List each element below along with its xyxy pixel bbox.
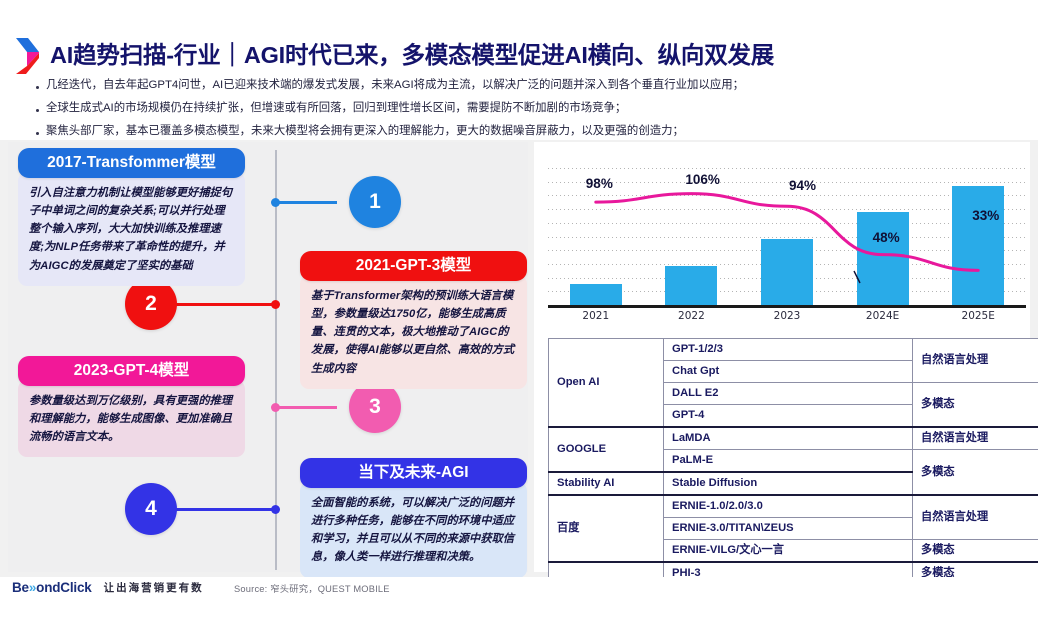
timeline-marker-3[interactable]: 3 <box>349 381 401 433</box>
timeline-card-body: 引入自注意力机制让模型能够更好捕捉句子中单词之间的复杂关系;可以并行处理整个输入… <box>18 172 245 286</box>
timeline-card-gpt3[interactable]: 2021-GPT-3模型 基于Transformer架构的预训练大语言模型，参数… <box>300 251 527 389</box>
header-bullet: 全球生成式AI的市场规模仍在持续扩张，但增速或有所回落，回归到理性增长区间，需要… <box>36 101 1016 115</box>
source-note: Source: 窄头研究，QUEST MOBILE <box>234 581 390 595</box>
bullet-dot-icon <box>36 86 39 89</box>
title-row: AI趋势扫描-行业｜AGI时代已来，多模态模型促进AI横向、纵向双发展 <box>14 36 774 76</box>
timeline-marker-label: 3 <box>369 395 381 419</box>
header-bullet-text: 聚焦头部厂家，基本已覆盖多模态模型，未来大模型将会拥有更深入的理解能力，更大的数… <box>46 124 684 138</box>
chart-growth-line <box>548 168 1026 308</box>
table-cell-category: 多模态 <box>913 450 1038 496</box>
brand-name: Be»ondClick <box>12 580 92 595</box>
timeline-marker-1[interactable]: 1 <box>349 176 401 228</box>
table-row: Open AIGPT-1/2/3自然语言处理 <box>549 339 1038 361</box>
timeline-card-title: 当下及未来-AGI <box>300 458 527 488</box>
models-table: Open AIGPT-1/2/3自然语言处理Chat GptDALL E2多模态… <box>548 338 1038 608</box>
chart-data-label: 106% <box>685 172 720 187</box>
bullet-dot-icon <box>36 132 39 135</box>
header-bullet-text: 几经迭代，自去年起GPT4问世，AI已迎来技术端的爆发式发展，未来AGI将成为主… <box>46 78 744 92</box>
header-bullet: 几经迭代，自去年起GPT4问世，AI已迎来技术端的爆发式发展，未来AGI将成为主… <box>36 78 1016 92</box>
chart-x-tick-label: 2023 <box>774 310 801 322</box>
table-cell-model: GPT-1/2/3 <box>664 339 913 361</box>
header-bullet: 聚焦头部厂家，基本已覆盖多模态模型，未来大模型将会拥有更深入的理解能力，更大的数… <box>36 124 1016 138</box>
chart-plot-area: 98%106%94%48%33% <box>548 168 1026 308</box>
table-cell-category: 自然语言处理 <box>913 495 1038 540</box>
slide-root: AI趋势扫描-行业｜AGI时代已来，多模态模型促进AI横向、纵向双发展 几经迭代… <box>0 0 1038 617</box>
chart-data-label: 48% <box>873 230 900 245</box>
table-cell-vendor: 百度 <box>549 495 664 562</box>
table-cell-category: 多模态 <box>913 383 1038 428</box>
timeline-connector-4 <box>172 508 276 511</box>
timeline-card-title: 2021-GPT-3模型 <box>300 251 527 281</box>
header-bullet-list: 几经迭代，自去年起GPT4问世，AI已迎来技术端的爆发式发展，未来AGI将成为主… <box>36 78 1016 146</box>
table-cell-model: ERNIE-3.0/TITAN\ZEUS <box>664 518 913 540</box>
chart-x-tick-labels: 2021202220232024E2025E <box>548 310 1026 328</box>
chevron-arrow-logo-icon <box>14 36 40 76</box>
timeline-card-transformer[interactable]: 2017-Transfommer模型 引入自注意力机制让模型能够更好捕捉句子中单… <box>18 148 245 286</box>
chart-data-label: 94% <box>789 178 816 193</box>
chart-x-tick-label: 2025E <box>962 310 995 322</box>
table-cell-model: DALL E2 <box>664 383 913 405</box>
table-cell-category: 多模态 <box>913 540 1038 563</box>
timeline-card-agi[interactable]: 当下及未来-AGI 全面智能的系统，可以解决广泛的问题并进行多种任务，能够在不同… <box>300 458 527 578</box>
table-row: 百度ERNIE-1.0/2.0/3.0自然语言处理 <box>549 495 1038 518</box>
timeline-marker-2[interactable]: 2 <box>125 278 177 330</box>
table-cell-model: ERNIE-VILG/文心一言 <box>664 540 913 563</box>
timeline-card-body: 参数量级达到万亿级别，具有更强的推理和理解能力，能够生成图像、更加准确且流畅的语… <box>18 380 245 457</box>
timeline-card-gpt4[interactable]: 2023-GPT-4模型 参数量级达到万亿级别，具有更强的推理和理解能力，能够生… <box>18 356 245 457</box>
table-cell-vendor: Stability AI <box>549 472 664 495</box>
brand-name-post: ondClick <box>36 580 91 595</box>
timeline-card-body: 基于Transformer架构的预训练大语言模型，参数量级达1750亿，能够生成… <box>300 275 527 389</box>
chart-x-tick-label: 2022 <box>678 310 705 322</box>
timeline-node-4 <box>271 505 280 514</box>
page-title: AI趋势扫描-行业｜AGI时代已来，多模态模型促进AI横向、纵向双发展 <box>50 44 774 68</box>
table-cell-category: 自然语言处理 <box>913 339 1038 383</box>
header-bullet-text: 全球生成式AI的市场规模仍在持续扩张，但增速或有所回落，回归到理性增长区间，需要… <box>46 101 626 115</box>
timeline-card-title: 2017-Transfommer模型 <box>18 148 245 178</box>
table-cell-model: LaMDA <box>664 427 913 450</box>
table-cell-model: ERNIE-1.0/2.0/3.0 <box>664 495 913 518</box>
chart-data-label: 98% <box>586 176 613 191</box>
brand-name-pre: Be <box>12 580 29 595</box>
table-cell-model: PaLM-E <box>664 450 913 473</box>
market-growth-chart: 98%106%94%48%33% 2021202220232024E2025E <box>548 168 1026 333</box>
timeline-node-1 <box>271 198 280 207</box>
timeline-connector-3 <box>279 406 337 409</box>
table-cell-model: Chat Gpt <box>664 361 913 383</box>
timeline-connector-2 <box>172 303 276 306</box>
timeline-node-2 <box>271 300 280 309</box>
slide-header: AI趋势扫描-行业｜AGI时代已来，多模态模型促进AI横向、纵向双发展 几经迭代… <box>0 0 1038 140</box>
table-cell-category: 自然语言处理 <box>913 427 1038 450</box>
timeline-marker-label: 4 <box>145 497 157 521</box>
table-cell-vendor: GOOGLE <box>549 427 664 472</box>
timeline-card-title: 2023-GPT-4模型 <box>18 356 245 386</box>
chart-x-axis <box>548 305 1026 308</box>
table-cell-model: GPT-4 <box>664 405 913 428</box>
chart-x-tick-label: 2021 <box>582 310 609 322</box>
table-cell-vendor: Open AI <box>549 339 664 428</box>
timeline-connector-1 <box>279 201 337 204</box>
timeline-card-body: 全面智能的系统，可以解决广泛的问题并进行多种任务，能够在不同的环境中适应和学习，… <box>300 482 527 578</box>
timeline-node-3 <box>271 403 280 412</box>
brand-lockup: Be»ondClick 让出海营销更有数 <box>12 580 204 595</box>
brand-slogan: 让出海营销更有数 <box>104 580 204 595</box>
chart-x-tick-label: 2024E <box>866 310 899 322</box>
table-cell-model: Stable Diffusion <box>664 472 913 495</box>
timeline-marker-4[interactable]: 4 <box>125 483 177 535</box>
bullet-dot-icon <box>36 109 39 112</box>
timeline-marker-label: 1 <box>369 190 381 214</box>
chart-data-label: 33% <box>972 208 999 223</box>
timeline-marker-label: 2 <box>145 292 157 316</box>
table-row: GOOGLELaMDA自然语言处理 <box>549 427 1038 450</box>
